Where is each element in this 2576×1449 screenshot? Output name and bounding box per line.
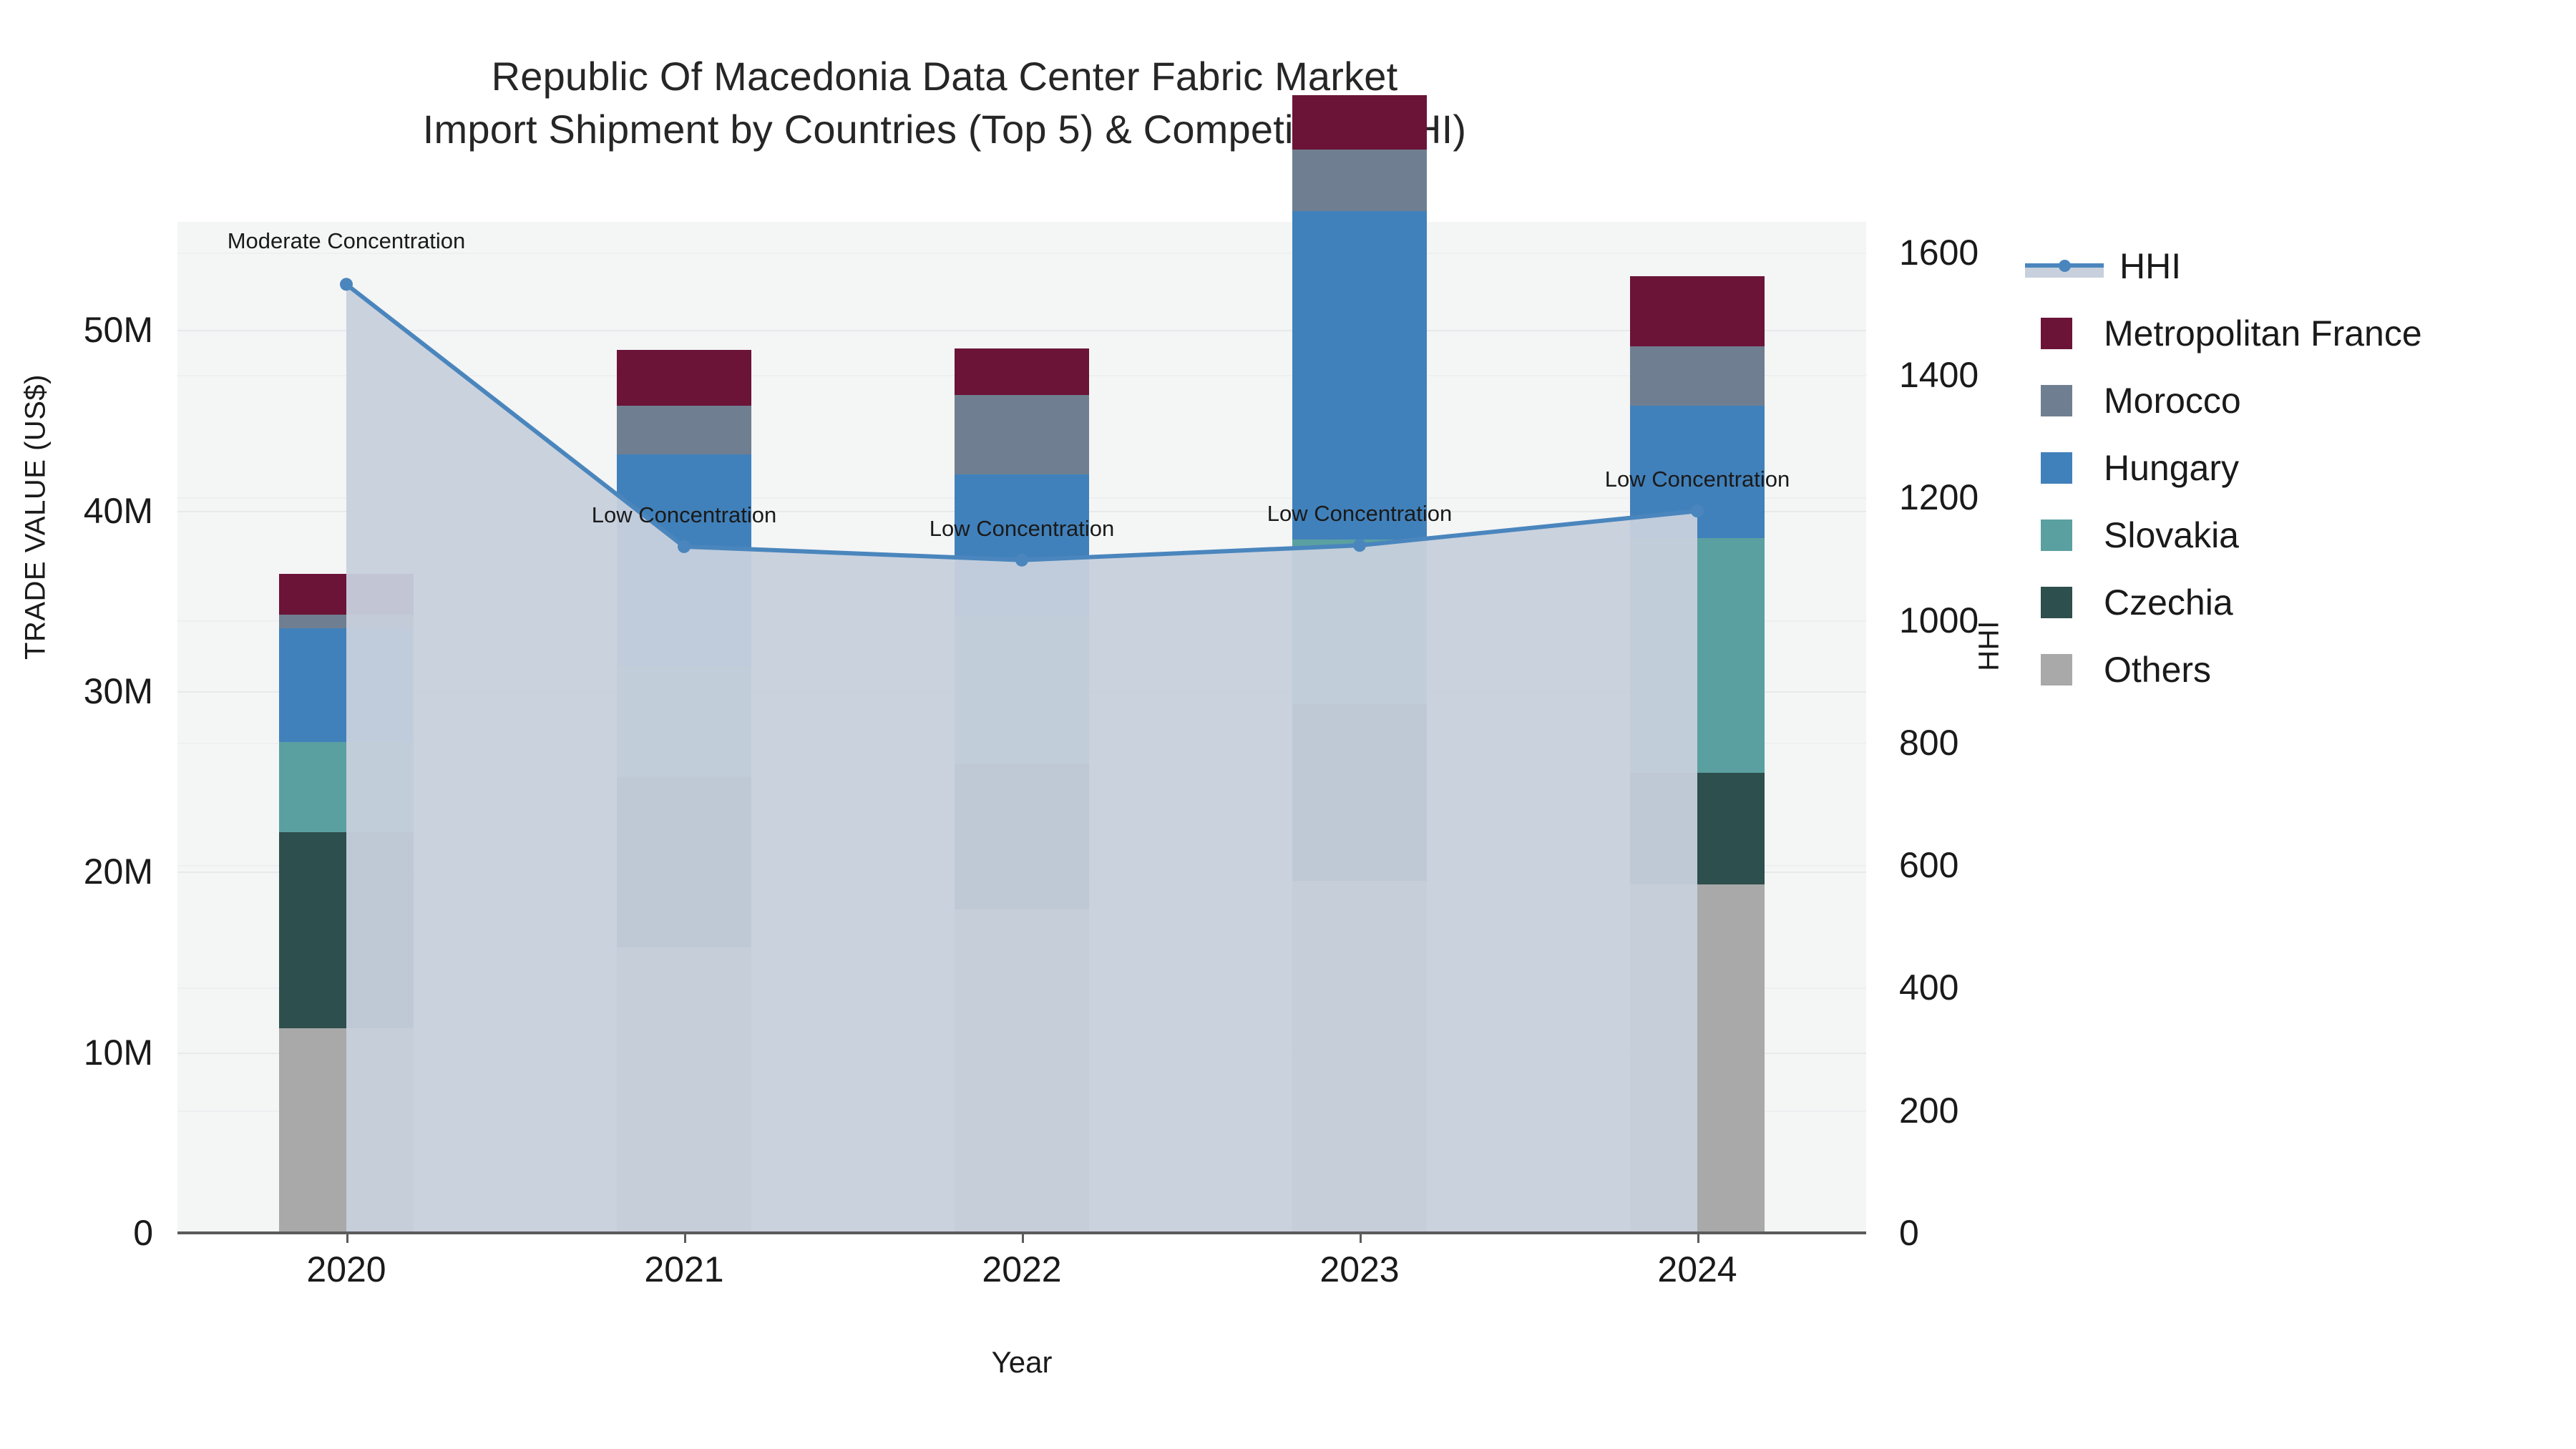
bar-segment-morocco[interactable]: [1292, 150, 1427, 211]
bar-segment-czechia[interactable]: [279, 832, 414, 1028]
bar-segment-slovakia[interactable]: [617, 666, 751, 776]
annotation-2020: Moderate Concentration: [228, 228, 466, 254]
y-tick-right-800: 800: [1899, 722, 1958, 763]
bar-segment-others[interactable]: [1292, 881, 1427, 1233]
legend-swatch: [2041, 587, 2072, 618]
bar-group-2024[interactable]: [1630, 222, 1765, 1233]
y-tick-left-40M: 40M: [84, 490, 153, 532]
legend-dot-marker: [2059, 260, 2071, 272]
bar-segment-metropolitan-france[interactable]: [279, 574, 414, 615]
y-tick-right-1200: 1200: [1899, 477, 1979, 518]
x-tick-2022: 2022: [982, 1249, 1061, 1290]
y-tick-left-30M: 30M: [84, 670, 153, 712]
legend-item-hungary[interactable]: Hungary: [2025, 434, 2569, 502]
x-tick-mark-2021: [684, 1233, 686, 1243]
chart-page: Republic Of Macedonia Data Center Fabric…: [0, 0, 2576, 1449]
bar-segment-slovakia[interactable]: [279, 742, 414, 832]
x-tick-2021: 2021: [644, 1249, 723, 1290]
y-tick-left-20M: 20M: [84, 851, 153, 892]
y-tick-right-1600: 1600: [1899, 232, 1979, 273]
y-tick-right-200: 200: [1899, 1090, 1958, 1131]
bar-segment-metropolitan-france[interactable]: [1292, 95, 1427, 150]
legend-label: Morocco: [2104, 380, 2241, 421]
x-tick-2020: 2020: [306, 1249, 386, 1290]
legend-item-czechia[interactable]: Czechia: [2025, 569, 2569, 636]
bar-group-2022[interactable]: [955, 222, 1089, 1233]
x-tick-2024: 2024: [1657, 1249, 1737, 1290]
legend-label: HHI: [2119, 245, 2181, 287]
legend-swatch: [2041, 654, 2072, 686]
legend-swatch: [2041, 385, 2072, 416]
legend-swatch: [2041, 452, 2072, 484]
bar-segment-metropolitan-france[interactable]: [1630, 276, 1765, 346]
plot-area: Moderate ConcentrationLow ConcentrationL…: [177, 222, 1866, 1233]
annotation-2024: Low Concentration: [1605, 467, 1790, 492]
chart-title: Republic Of Macedonia Data Center Fabric…: [0, 50, 1889, 157]
y-tick-right-400: 400: [1899, 967, 1958, 1008]
y-tick-left-10M: 10M: [84, 1032, 153, 1073]
plot-inner: Moderate ConcentrationLow ConcentrationL…: [177, 222, 1866, 1233]
y-tick-left-0: 0: [133, 1212, 153, 1254]
bar-segment-czechia[interactable]: [955, 763, 1089, 909]
y-axis-right-title: HHI: [1974, 553, 2006, 739]
legend-label: Czechia: [2104, 582, 2233, 623]
legend-item-others[interactable]: Others: [2025, 636, 2569, 703]
legend-label: Others: [2104, 649, 2211, 691]
legend-item-morocco[interactable]: Morocco: [2025, 367, 2569, 434]
bar-segment-czechia[interactable]: [1630, 773, 1765, 884]
y-tick-right-0: 0: [1899, 1212, 1919, 1254]
x-tick-2023: 2023: [1319, 1249, 1399, 1290]
bar-segment-metropolitan-france[interactable]: [617, 350, 751, 406]
x-tick-mark-2023: [1360, 1233, 1362, 1243]
x-tick-mark-2022: [1022, 1233, 1024, 1243]
legend-item-hhi[interactable]: HHI: [2025, 233, 2569, 300]
bar-segment-hungary[interactable]: [1292, 211, 1427, 540]
bar-segment-slovakia[interactable]: [1630, 538, 1765, 773]
x-tick-mark-2020: [346, 1233, 348, 1243]
legend-label: Hungary: [2104, 447, 2239, 489]
annotation-2023: Low Concentration: [1267, 501, 1453, 527]
bar-segment-slovakia[interactable]: [1292, 540, 1427, 704]
annotation-2022: Low Concentration: [930, 516, 1115, 542]
bar-segment-hungary[interactable]: [955, 474, 1089, 615]
legend-label: Slovakia: [2104, 514, 2239, 556]
legend-item-metropolitan-france[interactable]: Metropolitan France: [2025, 300, 2569, 367]
y-tick-left-50M: 50M: [84, 309, 153, 351]
bar-segment-morocco[interactable]: [617, 406, 751, 454]
y-tick-right-600: 600: [1899, 844, 1958, 886]
bar-segment-others[interactable]: [1630, 884, 1765, 1233]
bar-segment-morocco[interactable]: [1630, 346, 1765, 406]
bar-segment-morocco[interactable]: [955, 395, 1089, 474]
legend-item-slovakia[interactable]: Slovakia: [2025, 502, 2569, 569]
bar-segment-czechia[interactable]: [617, 776, 751, 948]
bar-segment-morocco[interactable]: [279, 615, 414, 628]
bar-segment-others[interactable]: [279, 1028, 414, 1233]
y-tick-right-1400: 1400: [1899, 354, 1979, 396]
chart-title-line-2: Import Shipment by Countries (Top 5) & C…: [0, 103, 1889, 156]
chart-title-line-1: Republic Of Macedonia Data Center Fabric…: [0, 50, 1889, 103]
x-tick-mark-2024: [1697, 1233, 1699, 1243]
legend-swatch: [2041, 519, 2072, 551]
annotation-2021: Low Concentration: [592, 502, 777, 528]
bar-segment-hungary[interactable]: [617, 454, 751, 665]
bar-group-2023[interactable]: [1292, 222, 1427, 1233]
bar-group-2020[interactable]: [279, 222, 414, 1233]
bar-segment-czechia[interactable]: [1292, 704, 1427, 881]
y-axis-left-title: TRADE VALUE (US$): [20, 288, 52, 746]
legend-label: Metropolitan France: [2104, 313, 2422, 354]
bar-group-2021[interactable]: [617, 222, 751, 1233]
x-axis-title: Year: [177, 1345, 1866, 1380]
bar-segment-slovakia[interactable]: [955, 615, 1089, 763]
bar-segment-others[interactable]: [955, 909, 1089, 1233]
bar-segment-others[interactable]: [617, 947, 751, 1233]
bar-segment-hungary[interactable]: [279, 628, 414, 742]
legend-swatch: [2041, 318, 2072, 349]
bar-segment-metropolitan-france[interactable]: [955, 348, 1089, 396]
y-tick-right-1000: 1000: [1899, 600, 1979, 641]
legend-line-marker: [2025, 250, 2104, 282]
legend: HHIMetropolitan FranceMoroccoHungarySlov…: [2025, 233, 2569, 703]
